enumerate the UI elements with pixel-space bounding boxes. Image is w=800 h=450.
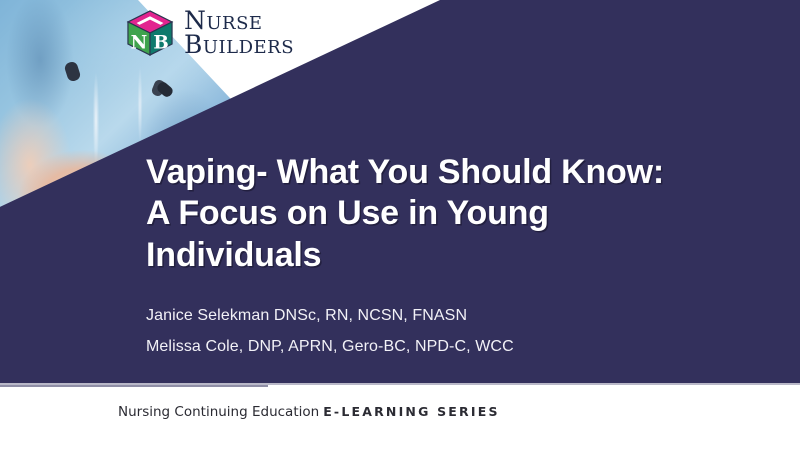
nurse-builders-wordmark: NURSE BUILDERS: [184, 9, 294, 56]
panel-divider-accent: [0, 385, 268, 387]
footer-lead: Nursing Continuing Education: [118, 404, 319, 420]
logo-word-line1-rest: URSE: [206, 13, 262, 34]
slide-canvas: N B NURSE BUILDERS Vaping- What You Shou…: [0, 0, 800, 450]
svg-text:N: N: [131, 32, 148, 53]
logo-word-line2-rest: UILDERS: [203, 37, 294, 58]
nb-cube-icon: N B: [126, 10, 174, 56]
footer-series: E-LEARNING SERIES: [323, 404, 499, 419]
title-line-1: Vaping- What You Should Know:: [146, 152, 706, 193]
title-line-3: Individuals: [146, 235, 706, 276]
title-line-2: A Focus on Use in Young: [146, 193, 706, 234]
author-2: Melissa Cole, DNP, APRN, Gero-BC, NPD-C,…: [146, 331, 706, 362]
svg-text:B: B: [153, 32, 168, 53]
page-title: Vaping- What You Should Know: A Focus on…: [146, 152, 706, 276]
footer-caption: Nursing Continuing EducationE-LEARNING S…: [118, 404, 500, 420]
logo-word-line2: BUILDERS: [184, 33, 294, 57]
nurse-builders-logo: N B NURSE BUILDERS: [126, 7, 331, 59]
author-list: Janice Selekman DNSc, RN, NCSN, FNASN Me…: [146, 300, 706, 362]
author-1: Janice Selekman DNSc, RN, NCSN, FNASN: [146, 300, 706, 331]
